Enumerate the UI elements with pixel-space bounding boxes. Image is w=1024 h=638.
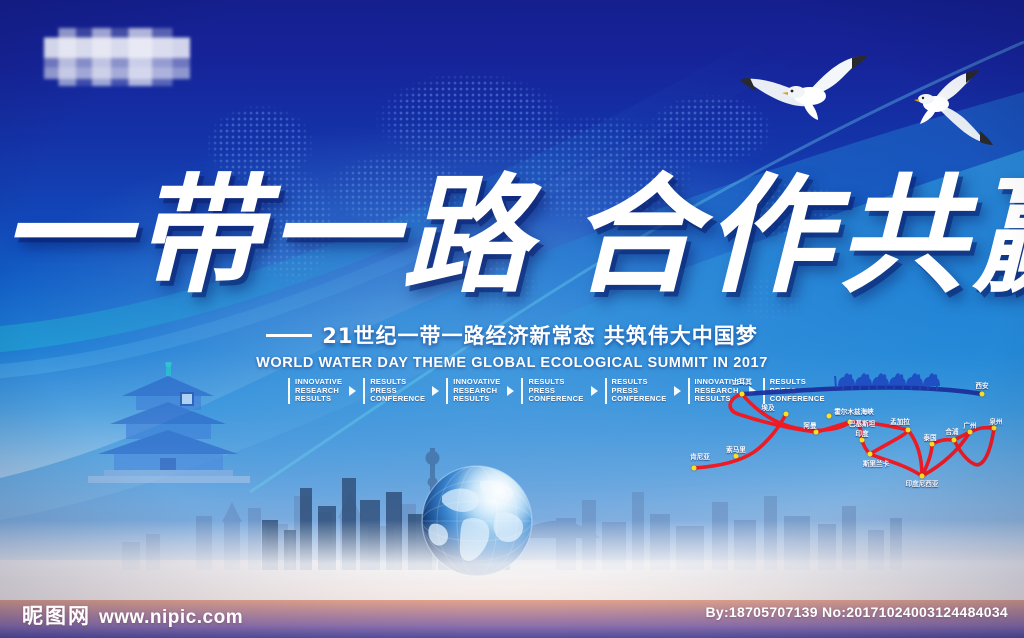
nipic-watermark-cn: 昵图网 (22, 600, 91, 630)
blurred-logo-watermark (44, 28, 190, 86)
nipic-watermark: 昵图网 www.nipic.com (22, 600, 243, 630)
nipic-watermark-url: www.nipic.com (99, 607, 243, 629)
vignette-overlay (0, 0, 1024, 638)
author-id-watermark: By:18705707139 No:20171024003124484034 (705, 604, 1008, 620)
poster-canvas: 一带一路合作共赢 21世纪一带一路经济新常态 共筑伟大中国梦 WORLD WAT… (0, 0, 1024, 638)
